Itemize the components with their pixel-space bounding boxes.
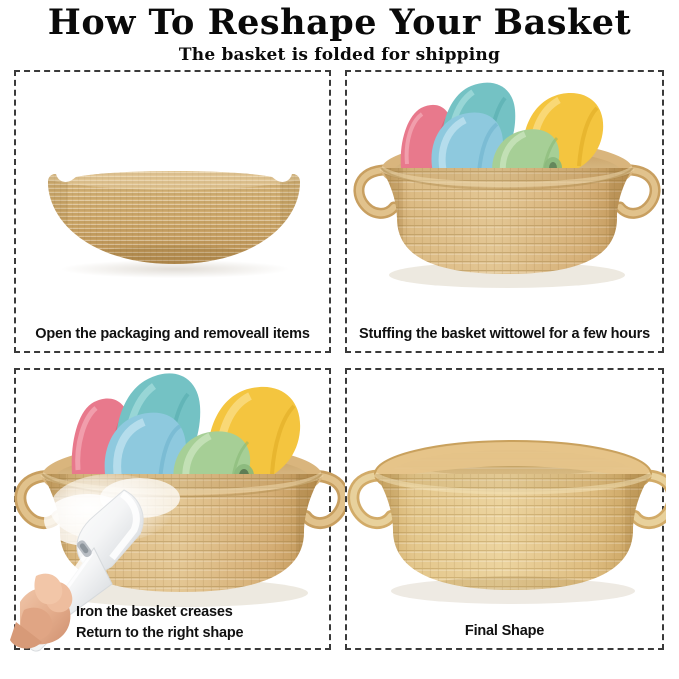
panel-4-caption: Final Shape <box>347 621 662 642</box>
step-panel-3: Iron the basket creases Return to the ri… <box>14 368 331 650</box>
page-title: How To Reshape Your Basket <box>0 0 679 43</box>
step-panel-1: Open the packaging and removeall items <box>14 70 331 353</box>
panel-3-caption: Iron the basket creases Return to the ri… <box>16 602 329 644</box>
panel-1-caption: Open the packaging and removeall items <box>16 324 329 345</box>
infographic-root: How To Reshape Your Basket The basket is… <box>0 0 679 679</box>
folded-flat-basket <box>46 160 302 268</box>
panel-4-illustration <box>347 370 662 610</box>
panel-2-caption: Stuffing the basket wittowel for a few h… <box>347 324 662 345</box>
panel-3-caption-line-1: Iron the basket creases <box>76 602 329 623</box>
panel-3-illustration <box>16 370 329 610</box>
step-panel-4: Final Shape <box>345 368 664 650</box>
page-subtitle: The basket is folded for shipping <box>0 43 679 66</box>
towels-group <box>401 83 603 179</box>
towels-group <box>72 373 300 488</box>
panel-1-illustration <box>16 72 329 313</box>
header: How To Reshape Your Basket The basket is… <box>0 0 679 68</box>
panel-2-illustration <box>347 72 662 313</box>
panel-3-caption-line-2: Return to the right shape <box>76 623 329 644</box>
step-panel-2: Stuffing the basket wittowel for a few h… <box>345 70 664 353</box>
